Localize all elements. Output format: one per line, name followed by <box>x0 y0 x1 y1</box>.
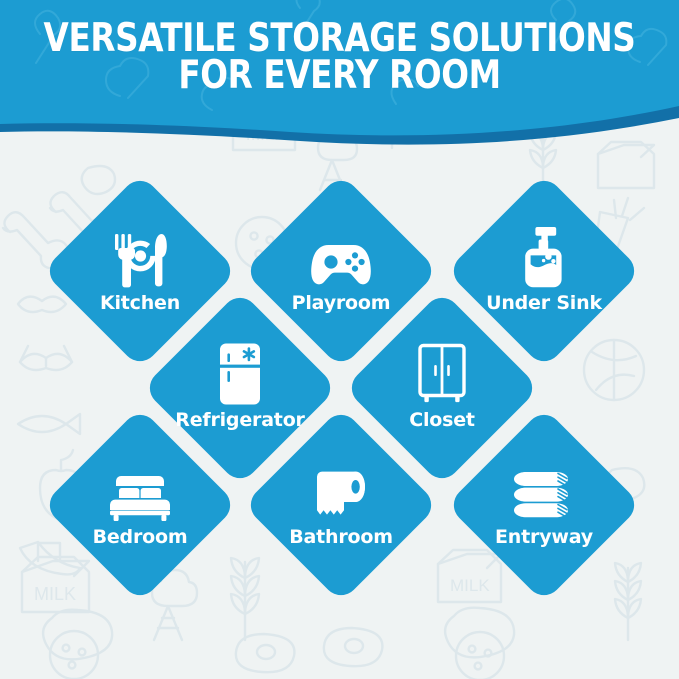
game-controller-icon <box>310 228 372 288</box>
folded-towels-icon <box>513 462 575 522</box>
room-tile-label: Closet <box>409 410 475 431</box>
room-tile-label: Bathroom <box>289 527 393 548</box>
refrigerator-icon <box>209 345 271 405</box>
wardrobe-icon <box>411 345 473 405</box>
room-tile-label: Entryway <box>495 527 593 548</box>
soap-dispenser-icon <box>513 228 575 288</box>
room-tile-label: Under Sink <box>486 293 602 314</box>
room-tile-label: Bedroom <box>93 527 188 548</box>
toilet-paper-icon <box>310 462 372 522</box>
page-title-line-2: FOR EVERY ROOM <box>24 57 655 94</box>
room-tile-label: Playroom <box>292 293 391 314</box>
bed-icon <box>109 462 171 522</box>
infographic-canvas: MILK MILK MILK <box>0 0 679 679</box>
cutlery-plate-icon <box>109 228 171 288</box>
header-banner: VERSATILE STORAGE SOLUTIONS FOR EVERY RO… <box>0 0 679 150</box>
room-tile-label: Kitchen <box>100 293 180 314</box>
page-title: VERSATILE STORAGE SOLUTIONS FOR EVERY RO… <box>24 20 655 94</box>
room-tile-label: Refrigerator <box>175 410 304 431</box>
